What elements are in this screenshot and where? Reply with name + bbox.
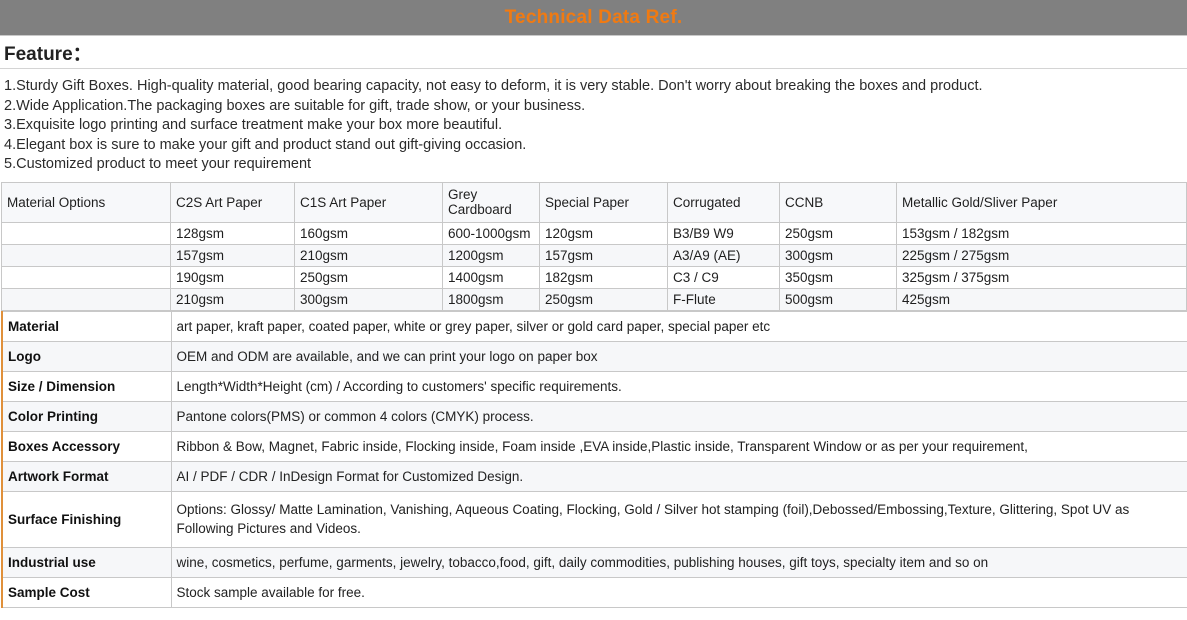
spec-row-artwork-format: Artwork Format AI / PDF / CDR / InDesign… [2,461,1187,491]
feature-line: 3.Exquisite logo printing and surface tr… [4,116,1183,136]
spec-value: wine, cosmetics, perfume, garments, jewe… [171,547,1187,577]
table-cell: 1800gsm [443,288,540,310]
table-cell: F-Flute [668,288,780,310]
spec-label: Logo [2,341,171,371]
page-title-banner: Technical Data Ref. [0,0,1187,36]
table-cell: 120gsm [540,222,668,244]
table-cell: 1200gsm [443,244,540,266]
feature-heading: Feature： [0,36,1187,69]
table-cell: 153gsm / 182gsm [897,222,1187,244]
spec-row-material: Material art paper, kraft paper, coated … [2,311,1187,341]
table-cell: 600-1000gsm [443,222,540,244]
table-cell: 182gsm [540,266,668,288]
table-cell: 190gsm [171,266,295,288]
table-cell: 210gsm [171,288,295,310]
column-header-ccnb: CCNB [780,182,897,222]
table-cell [2,288,171,310]
feature-line: 2.Wide Application.The packaging boxes a… [4,97,1183,117]
column-header-metallic-gold-sliver-paper: Metallic Gold/Sliver Paper [897,182,1187,222]
spec-row-industrial-use: Industrial use wine, cosmetics, perfume,… [2,547,1187,577]
table-cell: 300gsm [295,288,443,310]
spec-row-logo: Logo OEM and ODM are available, and we c… [2,341,1187,371]
feature-heading-label: Feature： [4,39,92,66]
table-cell: 210gsm [295,244,443,266]
spec-label: Material [2,311,171,341]
table-row: 210gsm 300gsm 1800gsm 250gsm F-Flute 500… [2,288,1187,310]
spec-value: AI / PDF / CDR / InDesign Format for Cus… [171,461,1187,491]
spec-row-color-printing: Color Printing Pantone colors(PMS) or co… [2,401,1187,431]
spec-row-sample-cost: Sample Cost Stock sample available for f… [2,577,1187,607]
table-cell: 425gsm [897,288,1187,310]
spec-value: OEM and ODM are available, and we can pr… [171,341,1187,371]
technical-data-page: Technical Data Ref. Feature： 1.Sturdy Gi… [0,0,1187,620]
feature-list: 1.Sturdy Gift Boxes. High-quality materi… [0,69,1187,182]
spec-label: Surface Finishing [2,491,171,547]
table-cell: 250gsm [780,222,897,244]
table-cell: 325gsm / 375gsm [897,266,1187,288]
table-row: 157gsm 210gsm 1200gsm 157gsm A3/A9 (AE) … [2,244,1187,266]
spec-label: Sample Cost [2,577,171,607]
table-cell: 350gsm [780,266,897,288]
table-cell: B3/B9 W9 [668,222,780,244]
table-cell: A3/A9 (AE) [668,244,780,266]
feature-line: 5.Customized product to meet your requir… [4,155,1183,175]
spec-label: Size / Dimension [2,371,171,401]
table-cell: 250gsm [295,266,443,288]
table-cell [2,244,171,266]
table-cell: 157gsm [540,244,668,266]
table-cell: C3 / C9 [668,266,780,288]
spec-row-surface-finishing: Surface Finishing Options: Glossy/ Matte… [2,491,1187,547]
spec-value: Ribbon & Bow, Magnet, Fabric inside, Flo… [171,431,1187,461]
spec-label: Color Printing [2,401,171,431]
column-header-c2s-art-paper: C2S Art Paper [171,182,295,222]
column-header-corrugated: Corrugated [668,182,780,222]
table-cell: 1400gsm [443,266,540,288]
table-cell: 250gsm [540,288,668,310]
column-header-special-paper: Special Paper [540,182,668,222]
spec-label: Artwork Format [2,461,171,491]
spec-value: art paper, kraft paper, coated paper, wh… [171,311,1187,341]
material-table-header-row: Material Options C2S Art Paper C1S Art P… [2,182,1187,222]
table-cell: 157gsm [171,244,295,266]
table-cell [2,266,171,288]
material-options-table: Material Options C2S Art Paper C1S Art P… [1,182,1187,311]
specification-table: Material art paper, kraft paper, coated … [1,311,1187,608]
table-cell [2,222,171,244]
feature-line: 1.Sturdy Gift Boxes. High-quality materi… [4,77,1183,97]
column-header-c1s-art-paper: C1S Art Paper [295,182,443,222]
column-header-grey-cardboard: Grey Cardboard [443,182,540,222]
spec-value: Options: Glossy/ Matte Lamination, Vanis… [171,491,1187,547]
spec-value: Stock sample available for free. [171,577,1187,607]
feature-line: 4.Elegant box is sure to make your gift … [4,136,1183,156]
table-cell: 160gsm [295,222,443,244]
spec-value: Length*Width*Height (cm) / According to … [171,371,1187,401]
table-cell: 300gsm [780,244,897,266]
column-header-material-options: Material Options [2,182,171,222]
table-cell: 128gsm [171,222,295,244]
spec-value: Pantone colors(PMS) or common 4 colors (… [171,401,1187,431]
spec-row-boxes-accessory: Boxes Accessory Ribbon & Bow, Magnet, Fa… [2,431,1187,461]
table-cell: 225gsm / 275gsm [897,244,1187,266]
spec-label: Boxes Accessory [2,431,171,461]
table-row: 190gsm 250gsm 1400gsm 182gsm C3 / C9 350… [2,266,1187,288]
table-row: 128gsm 160gsm 600-1000gsm 120gsm B3/B9 W… [2,222,1187,244]
table-cell: 500gsm [780,288,897,310]
page-title: Technical Data Ref. [505,8,683,27]
spec-row-size-dimension: Size / Dimension Length*Width*Height (cm… [2,371,1187,401]
spec-label: Industrial use [2,547,171,577]
